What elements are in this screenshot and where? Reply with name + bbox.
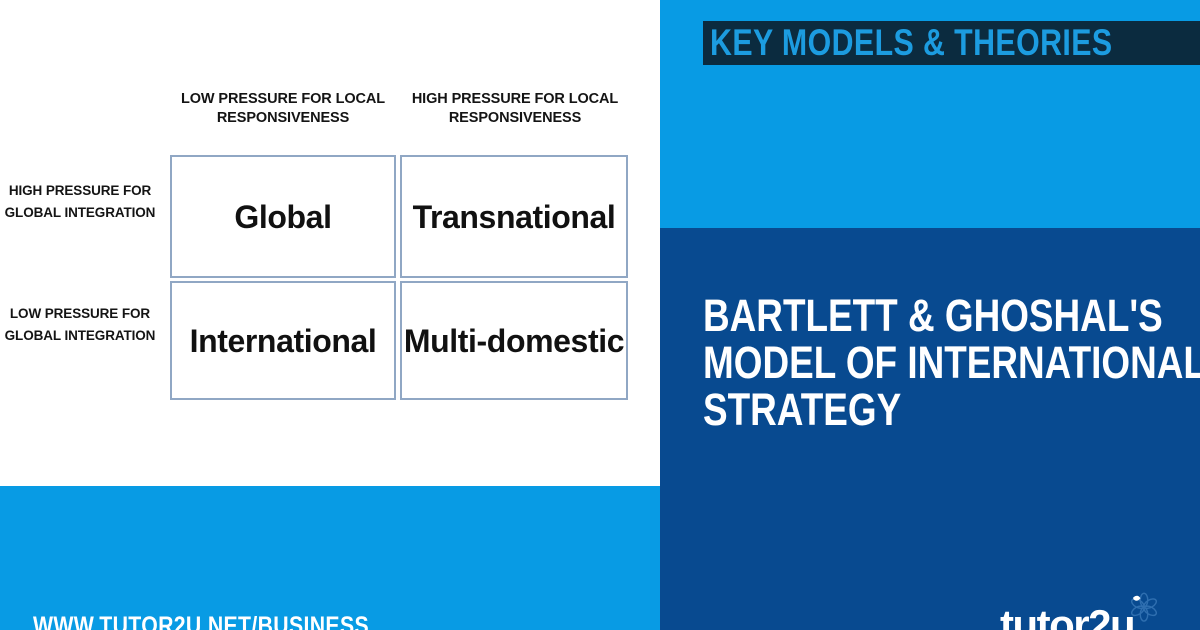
matrix-cell-multi-domestic: Multi-domestic <box>400 281 628 400</box>
flower-icon <box>1126 592 1162 626</box>
matrix-cell-label: Transnational <box>413 199 616 235</box>
matrix-cell-transnational: Transnational <box>400 155 628 278</box>
matrix-cell-label: International <box>190 323 377 359</box>
kicker-label: KEY MODELS & THEORIES <box>710 24 1113 61</box>
slide-canvas: KEY MODELS & THEORIES BARTLETT & GHOSHAL… <box>0 0 1200 630</box>
matrix-cell-label: Multi-domestic <box>404 323 624 359</box>
matrix-cell-label: Global <box>234 199 331 235</box>
page-title-line-2: MODEL OF INTERNATIONAL <box>703 339 1097 386</box>
footer-url: WWW.TUTOR2U.NET/BUSINESS <box>33 614 369 630</box>
matrix-cell-international: International <box>170 281 396 400</box>
tutor2u-wordmark: tutor2u <box>1000 604 1134 630</box>
left-blue-footer-band <box>0 486 660 630</box>
matrix-column-header-low-local-responsiveness: LOW PRESSURE FOR LOCAL RESPONSIVENESS <box>172 90 394 128</box>
matrix-cell-global: Global <box>170 155 396 278</box>
matrix-row-header-high-global-integration: HIGH PRESSURE FOR GLOBAL INTEGRATION <box>0 180 160 224</box>
strategy-matrix-diagram: LOW PRESSURE FOR LOCAL RESPONSIVENESS HI… <box>0 0 660 486</box>
matrix-column-header-high-local-responsiveness: HIGH PRESSURE FOR LOCAL RESPONSIVENESS <box>402 90 628 128</box>
page-title: BARTLETT & GHOSHAL'S MODEL OF INTERNATIO… <box>703 292 1183 433</box>
kicker-banner: KEY MODELS & THEORIES <box>703 21 1200 65</box>
page-title-line-3: STRATEGY <box>703 386 1097 433</box>
matrix-row-header-low-global-integration: LOW PRESSURE FOR GLOBAL INTEGRATION <box>0 303 160 347</box>
tutor2u-logo: tutor2u <box>1000 604 1134 630</box>
page-title-line-1: BARTLETT & GHOSHAL'S <box>703 292 1097 339</box>
